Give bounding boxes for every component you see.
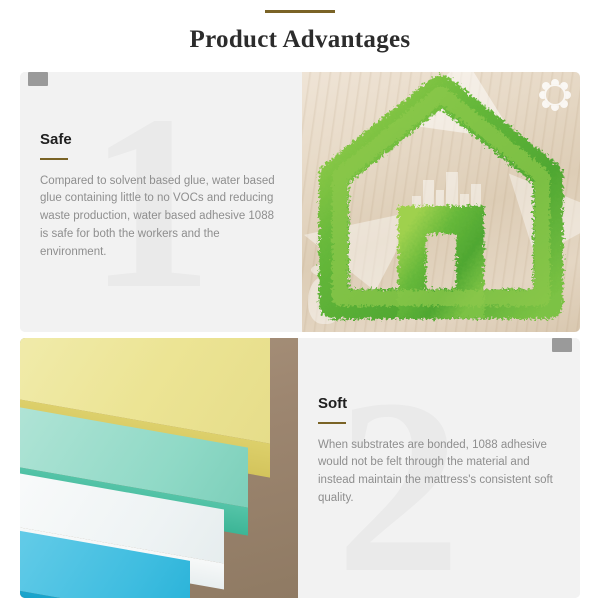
advantage-text-content-soft: Soft When substrates are bonded, 1088 ad… xyxy=(298,338,580,508)
advantage-text-panel-safe: 1 Safe Compared to solvent based glue, w… xyxy=(20,72,302,332)
advantage-image-safe xyxy=(302,72,580,332)
page-title: Product Advantages xyxy=(0,27,600,52)
heading-divider xyxy=(40,158,68,160)
advantage-row-soft: 2 Soft When substrates are bonded, 1088 … xyxy=(20,338,580,598)
page-header: Product Advantages xyxy=(0,0,600,52)
advantage-body-safe: Compared to solvent based glue, water ba… xyxy=(40,173,282,262)
advantage-text-content-safe: Safe Compared to solvent based glue, wat… xyxy=(20,72,302,262)
advantage-text-panel-soft: 2 Soft When substrates are bonded, 1088 … xyxy=(298,338,580,598)
advantage-heading-safe: Safe xyxy=(40,132,282,149)
advantage-heading-soft: Soft xyxy=(318,396,560,413)
advantage-image-soft xyxy=(20,338,298,598)
eco-house-photo xyxy=(302,72,580,332)
advantages-list: 1 Safe Compared to solvent based glue, w… xyxy=(20,72,580,598)
leafy-house-shape xyxy=(302,72,580,332)
title-divider xyxy=(265,10,335,13)
advantage-body-soft: When substrates are bonded, 1088 adhesiv… xyxy=(318,437,560,508)
heading-divider xyxy=(318,422,346,424)
advantage-row-safe: 1 Safe Compared to solvent based glue, w… xyxy=(20,72,580,332)
foam-slabs-photo xyxy=(20,338,298,598)
